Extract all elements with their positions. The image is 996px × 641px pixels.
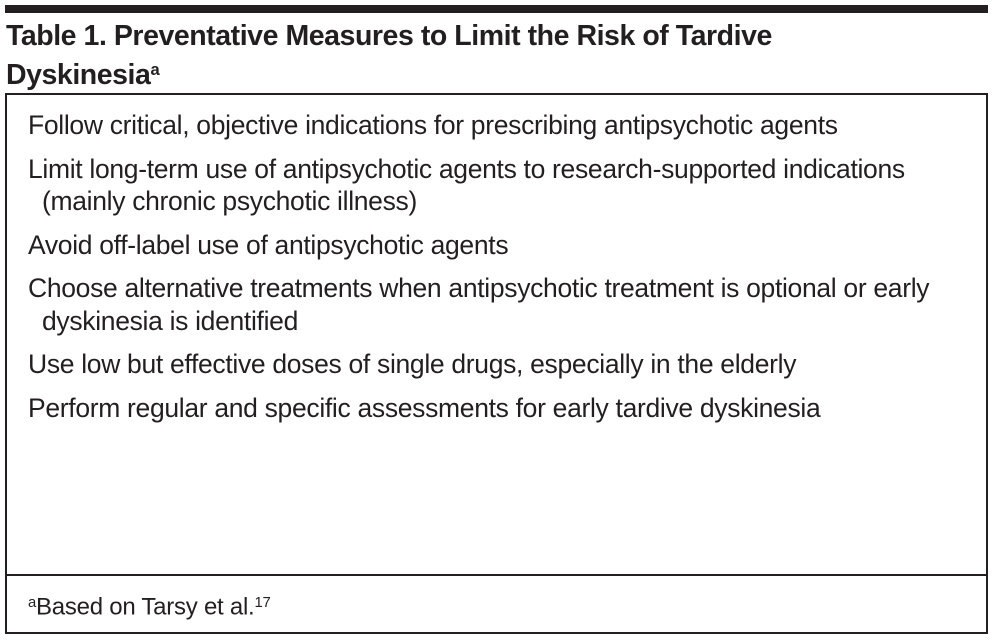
table-row: Avoid off-label use of antipsychotic age… <box>28 229 972 262</box>
table-body: Follow critical, objective indications f… <box>7 95 986 424</box>
table-row: Follow critical, objective indications f… <box>28 109 972 142</box>
table-row: Choose alternative treatments when antip… <box>28 272 972 337</box>
footnote-reference-number: 17 <box>254 595 270 611</box>
table-box: Follow critical, objective indications f… <box>5 93 988 634</box>
table-row: Perform regular and specific assessments… <box>28 392 972 425</box>
table-row: Use low but effective doses of single dr… <box>28 348 972 381</box>
table-figure: Table 1. Preventative Measures to Limit … <box>0 0 996 641</box>
footnote-divider <box>7 574 987 576</box>
table-title: Table 1. Preventative Measures to Limit … <box>6 19 906 92</box>
table-row: Limit long-term use of antipsychotic age… <box>28 153 972 218</box>
top-rule-divider <box>5 5 988 13</box>
footnote-text: Based on Tarsy et al. <box>36 594 254 621</box>
table-title-footnote-marker: a <box>150 60 159 79</box>
table-title-text: Table 1. Preventative Measures to Limit … <box>6 20 779 91</box>
footnote-marker: a <box>28 595 36 611</box>
table-footnote: aBased on Tarsy et al.17 <box>7 578 285 623</box>
